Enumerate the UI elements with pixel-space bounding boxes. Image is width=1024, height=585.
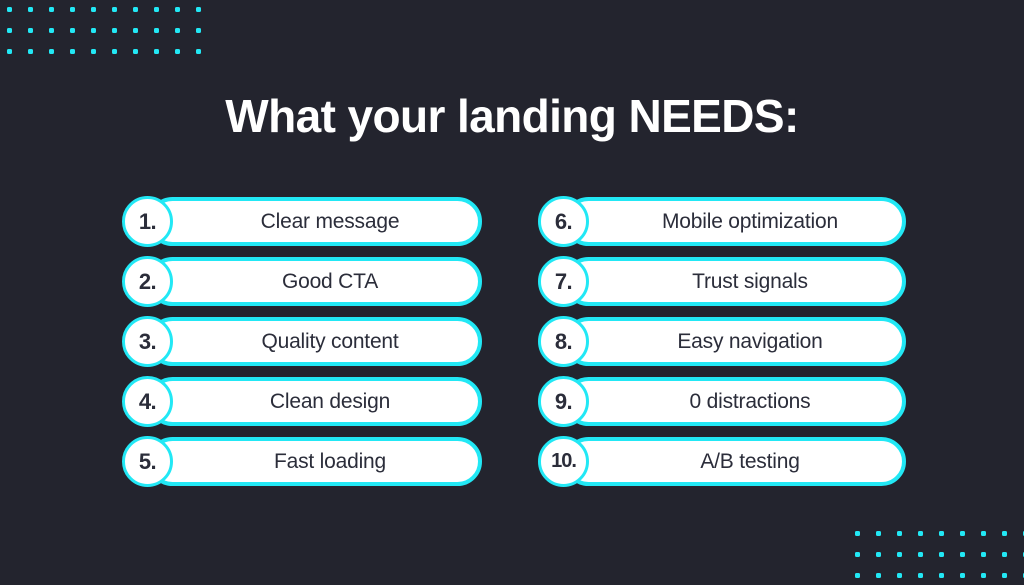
list-item[interactable]: Clear message 1. [122,197,482,246]
dot [918,552,923,557]
dot [175,7,180,12]
list-item-number: 2. [139,259,156,304]
dot [196,49,201,54]
dot [112,28,117,33]
dot [876,573,881,578]
dot [91,49,96,54]
list-item-label: Good CTA [252,261,378,302]
list-item-label: Fast loading [244,441,386,482]
dot [49,28,54,33]
dot [1002,531,1007,536]
list-item-number: 8. [555,319,572,364]
list-item-label: Quality content [231,321,398,362]
list-item[interactable]: Good CTA 2. [122,257,482,306]
list-item-number-badge: 6. [538,196,589,247]
list-item[interactable]: Trust signals 7. [538,257,906,306]
dot [133,49,138,54]
list-item[interactable]: Quality content 3. [122,317,482,366]
dot [7,7,12,12]
dot [112,7,117,12]
dot [939,552,944,557]
dot [981,552,986,557]
list-item-pill[interactable]: Easy navigation [564,317,906,366]
list-item-pill[interactable]: Good CTA [148,257,482,306]
dot [133,7,138,12]
dot [876,531,881,536]
dot [70,49,75,54]
list-item-label: 0 distractions [660,381,811,422]
list-item-number-badge: 4. [122,376,173,427]
list-item[interactable]: Clean design 4. [122,377,482,426]
dot [112,49,117,54]
dot [49,49,54,54]
list-item-number-badge: 8. [538,316,589,367]
dot [960,552,965,557]
dot [175,28,180,33]
dot [1002,573,1007,578]
dot-grid-bottom-right-icon [855,531,1024,578]
list-item-number-badge: 2. [122,256,173,307]
slide-title: What your landing NEEDS: [0,86,1024,146]
dot [196,28,201,33]
list-item-pill[interactable]: Trust signals [564,257,906,306]
list-item[interactable]: Fast loading 5. [122,437,482,486]
dot [7,28,12,33]
dot [133,28,138,33]
list-item-number: 5. [139,439,156,484]
list-item-pill[interactable]: Fast loading [148,437,482,486]
dot [939,573,944,578]
list-item-pill[interactable]: A/B testing [564,437,906,486]
dot [855,573,860,578]
list-item-label: Mobile optimization [632,201,838,242]
dot [897,531,902,536]
list-item-number-badge: 5. [122,436,173,487]
list-item-number: 10. [551,439,576,484]
list-item-number-badge: 3. [122,316,173,367]
dot [855,531,860,536]
dot [897,573,902,578]
list-item-label: A/B testing [670,441,799,482]
dot [70,28,75,33]
dot [175,49,180,54]
list-item-pill[interactable]: Clear message [148,197,482,246]
list-item-number-badge: 10. [538,436,589,487]
dot [1002,552,1007,557]
list-item-pill[interactable]: Quality content [148,317,482,366]
list-item[interactable]: Mobile optimization 6. [538,197,906,246]
dot [196,7,201,12]
dot [91,28,96,33]
list-item-number: 9. [555,379,572,424]
dot [939,531,944,536]
dot-grid-top-left-icon [7,7,201,54]
dot [28,49,33,54]
dot [7,49,12,54]
dot [28,7,33,12]
list-item-label: Trust signals [662,261,808,302]
dot [91,7,96,12]
dot [981,531,986,536]
dot [897,552,902,557]
dot [876,552,881,557]
dot [960,531,965,536]
dot [981,573,986,578]
dot [154,49,159,54]
list-item-number: 7. [555,259,572,304]
list-item-pill[interactable]: 0 distractions [564,377,906,426]
dot [918,573,923,578]
list-item-number-badge: 7. [538,256,589,307]
dot [960,573,965,578]
list-item-number: 3. [139,319,156,364]
list-item[interactable]: A/B testing 10. [538,437,906,486]
dot [154,28,159,33]
list-item-pill[interactable]: Mobile optimization [564,197,906,246]
list-item-pill[interactable]: Clean design [148,377,482,426]
dot [28,28,33,33]
list-item-number-badge: 1. [122,196,173,247]
list-column-left: Clear message 1. Good CTA 2. Quality con… [122,197,482,486]
list-column-right: Mobile optimization 6. Trust signals 7. … [538,197,906,486]
dot [855,552,860,557]
list-item-number-badge: 9. [538,376,589,427]
list-item-number: 6. [555,199,572,244]
list-item-number: 4. [139,379,156,424]
list-item-label: Clean design [240,381,390,422]
list-item[interactable]: 0 distractions 9. [538,377,906,426]
dot [49,7,54,12]
slide-canvas: What your landing NEEDS: Clear message 1… [0,0,1024,585]
list-item-label: Clear message [231,201,400,242]
dot [918,531,923,536]
dot [154,7,159,12]
list-item-number: 1. [139,199,156,244]
dot [70,7,75,12]
list-item-label: Easy navigation [647,321,822,362]
list-item[interactable]: Easy navigation 8. [538,317,906,366]
